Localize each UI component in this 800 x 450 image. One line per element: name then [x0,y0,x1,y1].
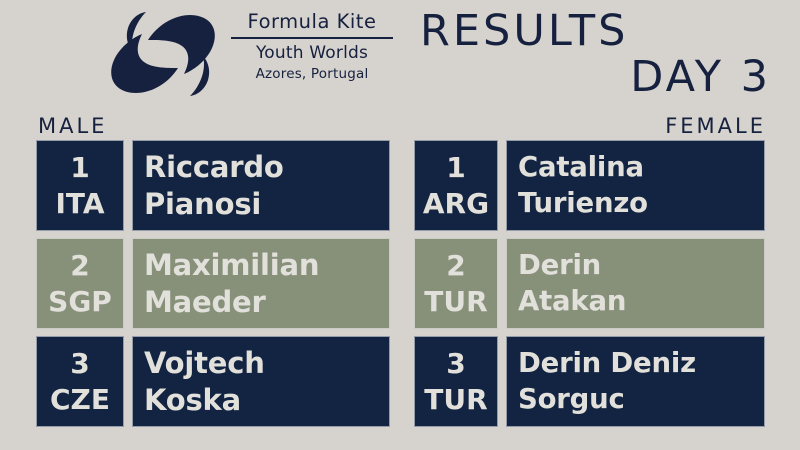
athlete-last-name: Maeder [144,288,389,317]
result-row: 3 TUR Derin Deniz Sorguc [414,336,765,427]
athlete-name-box: Riccardo Pianosi [132,140,390,231]
event-name-line2: Youth Worlds [231,44,393,64]
logo-divider [231,37,393,39]
rank-number: 2 [70,252,89,280]
section-label-female: FEMALE [665,114,766,138]
results-column-female: 1 ARG Catalina Turienzo 2 TUR Derin Atak… [414,140,765,434]
result-row: 2 SGP Maximilian Maeder [36,238,390,329]
athlete-first-name: Maximilian [144,251,389,280]
event-location: Azores, Portugal [231,66,393,82]
athlete-last-name: Pianosi [144,190,389,219]
title-line-day: DAY 3 [415,54,775,100]
rank-number: 1 [446,154,465,182]
section-label-male: MALE [38,114,107,138]
rank-box: 3 TUR [414,336,498,427]
rank-number: 3 [70,350,89,378]
country-code: ARG [423,190,489,218]
rank-box: 2 TUR [414,238,498,329]
athlete-first-name: Riccardo [144,153,389,182]
rank-box: 3 CZE [36,336,124,427]
athlete-first-name: Vojtech [144,349,389,378]
results-column-male: 1 ITA Riccardo Pianosi 2 SGP Maximilian … [36,140,390,434]
rank-number: 2 [446,252,465,280]
athlete-last-name: Koska [144,386,389,415]
athlete-name-box: Derin Atakan [506,238,765,329]
formula-kite-s-logo-icon [104,4,222,104]
athlete-name-box: Maximilian Maeder [132,238,390,329]
country-code: ITA [55,190,104,218]
rank-box: 1 ITA [36,140,124,231]
result-row: 2 TUR Derin Atakan [414,238,765,329]
result-row: 1 ITA Riccardo Pianosi [36,140,390,231]
result-row: 1 ARG Catalina Turienzo [414,140,765,231]
header: Formula Kite Youth Worlds Azores, Portug… [0,0,800,118]
rank-number: 1 [70,154,89,182]
country-code: TUR [424,386,487,414]
event-name-line1: Formula Kite [231,12,393,32]
athlete-last-name: Atakan [518,288,764,316]
athlete-first-name: Derin [518,252,764,280]
country-code: CZE [50,386,110,414]
rank-box: 2 SGP [36,238,124,329]
athlete-first-name: Catalina [518,154,764,182]
athlete-name-box: Catalina Turienzo [506,140,765,231]
rank-box: 1 ARG [414,140,498,231]
event-logo-text: Formula Kite Youth Worlds Azores, Portug… [231,12,393,82]
country-code: TUR [424,288,487,316]
title-line-results: RESULTS [415,8,775,54]
country-code: SGP [48,288,112,316]
page-title: RESULTS DAY 3 [415,8,775,100]
result-row: 3 CZE Vojtech Koska [36,336,390,427]
athlete-last-name: Sorguc [518,386,764,414]
athlete-first-name: Derin Deniz [518,350,764,378]
athlete-name-box: Vojtech Koska [132,336,390,427]
rank-number: 3 [446,350,465,378]
athlete-last-name: Turienzo [518,190,764,218]
athlete-name-box: Derin Deniz Sorguc [506,336,765,427]
